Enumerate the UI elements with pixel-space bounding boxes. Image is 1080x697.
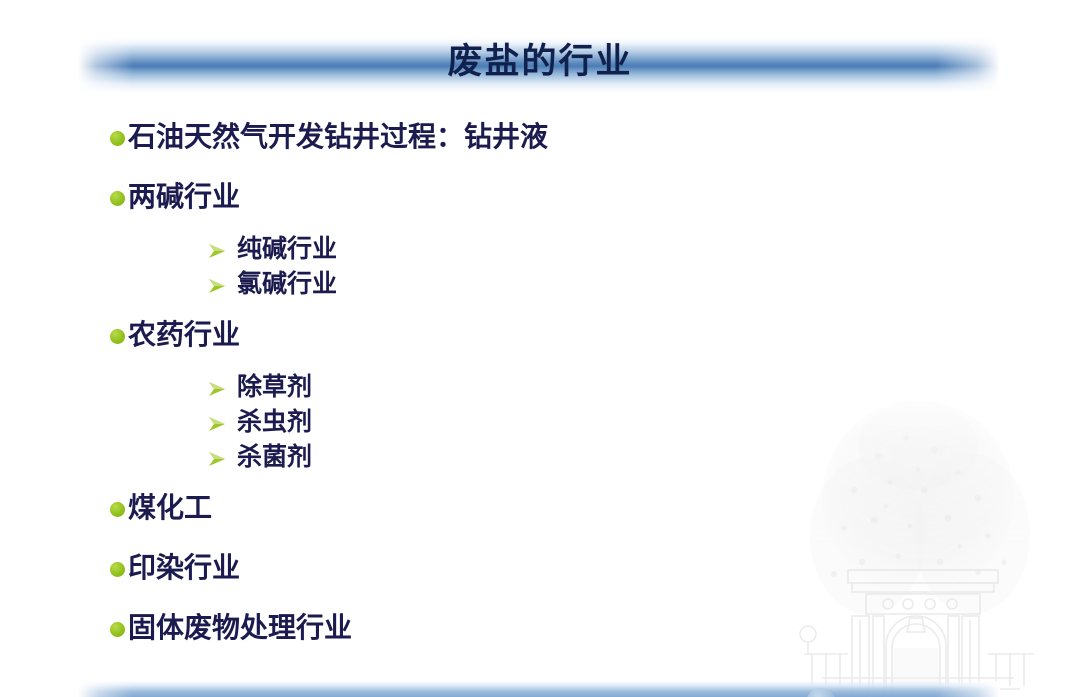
list-item-label: 印染行业 [128,549,240,589]
sub-list: 纯碱行业 氯碱行业 [0,232,1080,302]
sub-list-item-label: 杀虫剂 [237,405,312,440]
green-arrow-bullet-icon [206,275,228,297]
list-item-label: 石油天然气开发钻井过程：钻井液 [128,118,548,158]
sub-list-item: 纯碱行业 [206,232,1080,267]
green-arrow-bullet-icon [206,378,228,400]
sub-list-item-label: 纯碱行业 [237,232,337,267]
green-circle-bullet-icon [110,329,125,344]
green-arrow-bullet-icon [206,413,228,435]
sub-list-item: 除草剂 [206,370,1080,405]
slide-title: 废盐的行业 [0,38,1080,86]
sub-list-item: 杀虫剂 [206,405,1080,440]
green-circle-bullet-icon [110,131,125,146]
green-circle-bullet-icon [110,622,125,637]
sub-list-item: 杀菌剂 [206,440,1080,475]
sub-list-item-label: 除草剂 [237,370,312,405]
sub-list-item: 氯碱行业 [206,267,1080,302]
green-circle-bullet-icon [110,562,125,577]
bullet-list: 石油天然气开发钻井过程：钻井液 两碱行业 纯碱行业 氯碱行业 [0,118,1080,669]
bottom-banner-bar [78,681,1000,697]
list-item: 农药行业 [110,316,1080,356]
sub-list-item-label: 杀菌剂 [237,440,312,475]
list-item: 固体废物处理行业 [110,609,1080,649]
green-arrow-bullet-icon [206,240,228,262]
list-item-label: 农药行业 [128,316,240,356]
list-item-label: 煤化工 [128,489,212,529]
list-item: 石油天然气开发钻井过程：钻井液 [110,118,1080,158]
list-item: 印染行业 [110,549,1080,589]
list-item: 两碱行业 [110,178,1080,218]
list-item: 煤化工 [110,489,1080,529]
green-arrow-bullet-icon [206,448,228,470]
sub-list: 除草剂 杀虫剂 杀菌剂 [0,370,1080,475]
list-item-label: 固体废物处理行业 [128,609,352,649]
sub-list-item-label: 氯碱行业 [237,267,337,302]
green-circle-bullet-icon [110,502,125,517]
green-circle-bullet-icon [110,191,125,206]
list-item-label: 两碱行业 [128,178,240,218]
presentation-slide: 废盐的行业 石油天然气开发钻井过程：钻井液 两碱行业 纯碱行业 [0,0,1080,697]
